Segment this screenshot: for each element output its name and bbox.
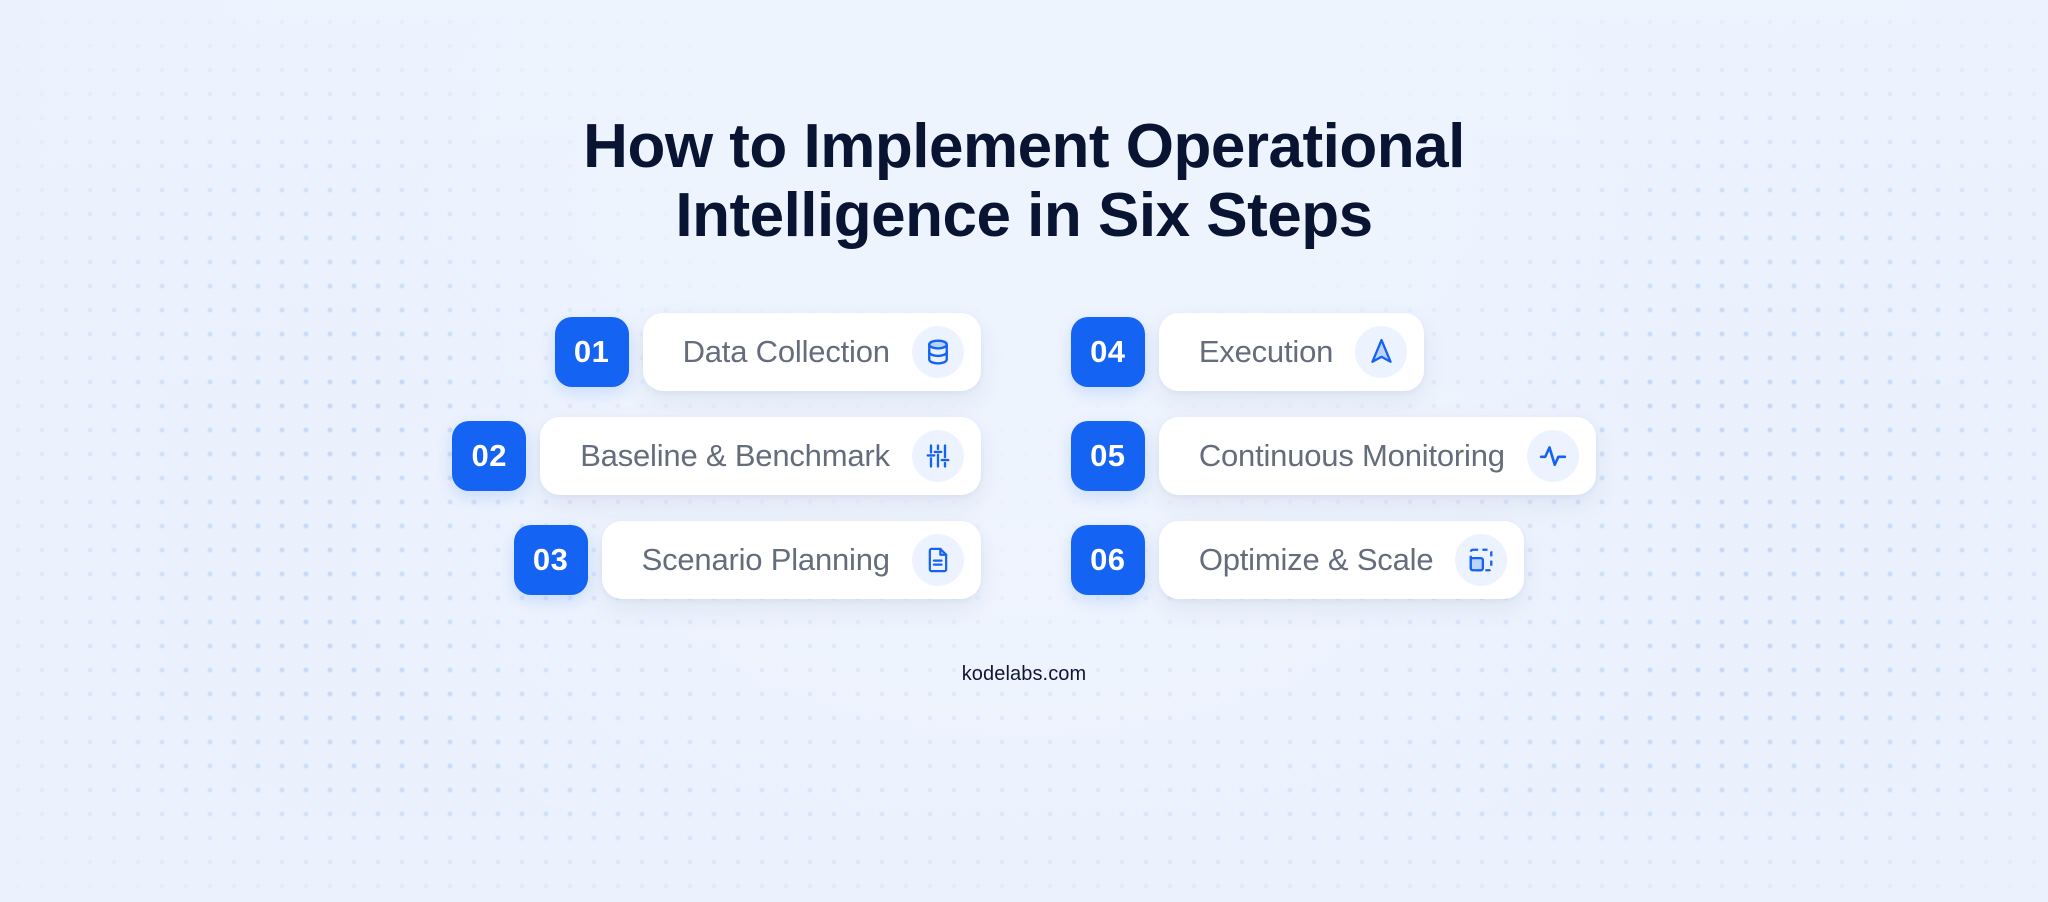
step-label-05: Continuous Monitoring [1199,438,1505,474]
step-number-badge-03: 03 [514,525,588,595]
step-label-02: Baseline & Benchmark [580,438,890,474]
step-card-01[interactable]: Data Collection [643,313,981,391]
navigation-arrow-icon [1355,326,1407,378]
step-row-06[interactable]: 06 Optimize & Scale [1071,521,1525,599]
step-number-badge-04: 04 [1071,317,1145,387]
page-title: How to Implement Operational Intelligenc… [494,0,1554,251]
step-number-badge-05: 05 [1071,421,1145,491]
step-label-03: Scenario Planning [642,542,890,578]
database-icon [912,326,964,378]
step-row-04[interactable]: 04 Execution [1071,313,1424,391]
step-number-badge-02: 02 [452,421,526,491]
activity-pulse-icon [1527,430,1579,482]
steps-column-right: 04 Execution 05 Continuous Monit [1071,313,1596,599]
sliders-icon [912,430,964,482]
step-label-04: Execution [1199,334,1333,370]
page-title-line-1: How to Implement Operational [494,112,1554,181]
step-card-05[interactable]: Continuous Monitoring [1159,417,1596,495]
step-row-01[interactable]: 01 Data Collection [452,313,981,391]
step-label-06: Optimize & Scale [1199,542,1434,578]
step-row-02[interactable]: 02 Baseline & Benchmark [452,417,981,495]
step-card-02[interactable]: Baseline & Benchmark [540,417,981,495]
step-card-06[interactable]: Optimize & Scale [1159,521,1525,599]
step-number-badge-01: 01 [555,317,629,387]
infographic-canvas: How to Implement Operational Intelligenc… [0,0,2048,902]
step-card-04[interactable]: Execution [1159,313,1424,391]
footer-website: kodelabs.com [962,663,1087,686]
step-number-badge-06: 06 [1071,525,1145,595]
step-row-05[interactable]: 05 Continuous Monitoring [1071,417,1596,495]
resize-scale-icon [1455,534,1507,586]
step-row-03[interactable]: 03 Scenario Planning [452,521,981,599]
page-title-line-2: Intelligence in Six Steps [494,181,1554,250]
document-icon [912,534,964,586]
step-label-01: Data Collection [683,334,890,370]
step-card-03[interactable]: Scenario Planning [602,521,981,599]
steps-column-left: 01 Data Collection 02 [452,313,981,599]
steps-container: 01 Data Collection 02 [452,313,1596,599]
